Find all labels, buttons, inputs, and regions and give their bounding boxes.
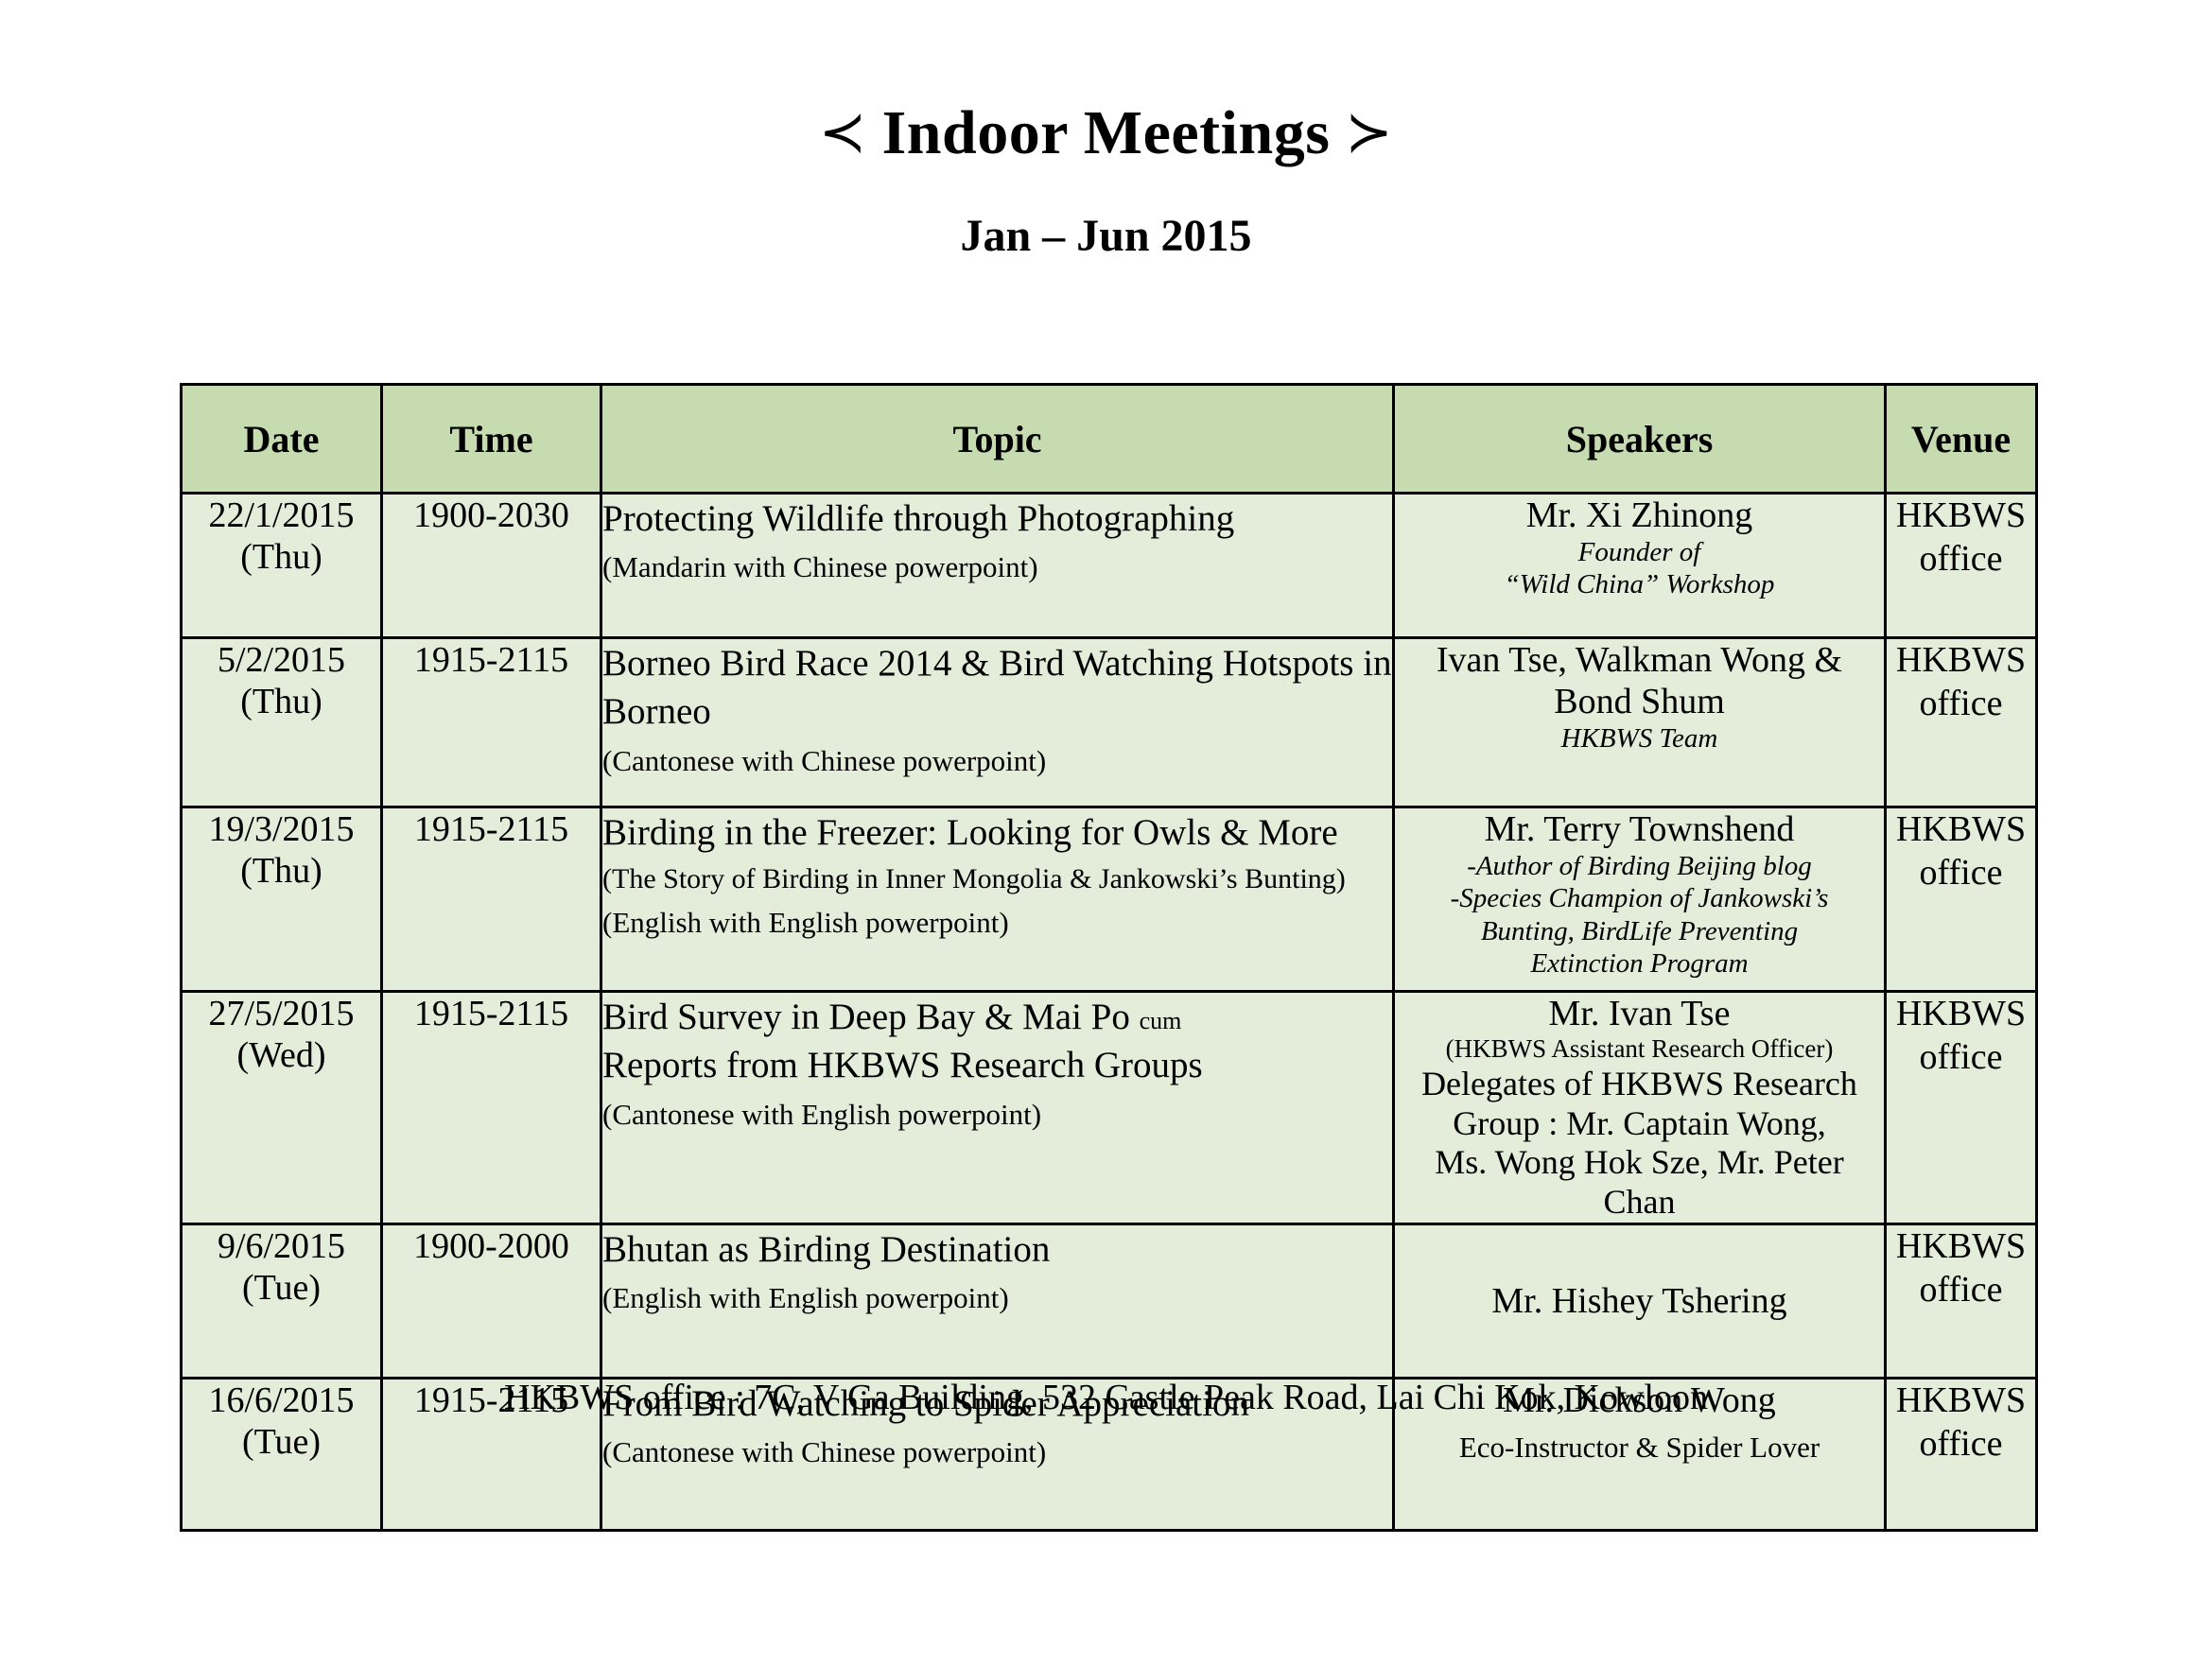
venue-line-1: HKBWS xyxy=(1896,994,2026,1033)
topic-title: Protecting Wildlife through Photographin… xyxy=(602,495,1392,543)
speaker-name: Mr. Xi Zhinong xyxy=(1395,495,1884,536)
topic-title-part-1: Bird Survey in Deep Bay & Mai Po xyxy=(602,997,1140,1037)
table-row: 5/2/2015 (Thu) 1915-2115 Borneo Bird Rac… xyxy=(182,638,2037,807)
cell-date: 22/1/2015 (Thu) xyxy=(182,494,382,638)
venue-line-1: HKBWS xyxy=(1896,809,2026,849)
speaker-role-line: -Author of Birding Beijing blog xyxy=(1395,850,1884,882)
cell-topic: Protecting Wildlife through Photographin… xyxy=(601,494,1394,638)
cell-topic: Bird Survey in Deep Bay & Mai Po cum Rep… xyxy=(601,992,1394,1224)
cell-date: 9/6/2015 (Tue) xyxy=(182,1223,382,1378)
date-line-1: 5/2/2015 xyxy=(218,640,345,680)
venue-line-2: office xyxy=(1920,1270,2003,1310)
arrow-left-icon: ≺ xyxy=(819,104,867,161)
cell-speakers: Ivan Tse, Walkman Wong & Bond Shum HKBWS… xyxy=(1394,638,1886,807)
table-row: 9/6/2015 (Tue) 1900-2000 Bhutan as Birdi… xyxy=(182,1223,2037,1378)
cell-speakers: Mr. Terry Townshend -Author of Birding B… xyxy=(1394,807,1886,992)
column-header-venue: Venue xyxy=(1886,385,2037,494)
cell-time: 1915-2115 xyxy=(382,807,601,992)
table-row: 22/1/2015 (Thu) 1900-2030 Protecting Wil… xyxy=(182,494,2037,638)
speaker-name: Ivan Tse, Walkman Wong & Bond Shum xyxy=(1395,639,1884,722)
date-line-1: 27/5/2015 xyxy=(208,994,354,1033)
venue-line-1: HKBWS xyxy=(1896,1226,2026,1266)
date-line-2: (Tue) xyxy=(242,1422,321,1462)
table-row: 27/5/2015 (Wed) 1915-2115 Bird Survey in… xyxy=(182,992,2037,1224)
topic-language-note: (Cantonese with Chinese powerpoint) xyxy=(602,1433,1392,1472)
table-header-row: Date Time Topic Speakers Venue xyxy=(182,385,2037,494)
cell-venue: HKBWS office xyxy=(1886,992,2037,1224)
cell-venue: HKBWS office xyxy=(1886,1223,2037,1378)
speaker-delegates-line: Delegates of HKBWS Research xyxy=(1395,1065,1884,1104)
topic-language-note: (Mandarin with Chinese powerpoint) xyxy=(602,548,1392,587)
venue-line-2: office xyxy=(1920,1424,2003,1464)
cell-speakers: Mr. Xi Zhinong Founder of “Wild China” W… xyxy=(1394,494,1886,638)
topic-subtitle: (The Story of Birding in Inner Mongolia … xyxy=(602,860,1392,898)
date-line-2: (Thu) xyxy=(240,851,322,891)
speaker-delegates-line: Ms. Wong Hok Sze, Mr. Peter Chan xyxy=(1395,1143,1884,1223)
date-line-1: 22/1/2015 xyxy=(208,495,354,535)
date-line-2: (Wed) xyxy=(237,1035,326,1075)
topic-title: Birding in the Freezer: Looking for Owls… xyxy=(602,808,1392,857)
date-line-1: 19/3/2015 xyxy=(208,809,354,849)
speaker-role-line: “Wild China” Workshop xyxy=(1395,568,1884,600)
cell-topic: Borneo Bird Race 2014 & Bird Watching Ho… xyxy=(601,638,1394,807)
topic-language-note: (Cantonese with English powerpoint) xyxy=(602,1096,1392,1135)
date-line-2: (Thu) xyxy=(240,537,322,577)
date-line-2: (Tue) xyxy=(242,1268,321,1308)
cell-venue: HKBWS office xyxy=(1886,638,2037,807)
venue-line-2: office xyxy=(1920,1037,2003,1077)
speaker-delegates-line: Group : Mr. Captain Wong, xyxy=(1395,1104,1884,1144)
column-header-date: Date xyxy=(182,385,382,494)
topic-title-line-2: Reports from HKBWS Research Groups xyxy=(602,1041,1392,1089)
document-page: ≺Indoor Meetings≻ Jan – Jun 2015 Date Ti… xyxy=(0,102,2212,1666)
cell-speakers: Mr. Hishey Tshering xyxy=(1394,1223,1886,1378)
column-header-topic: Topic xyxy=(601,385,1394,494)
cell-time: 1900-2000 xyxy=(382,1223,601,1378)
cell-topic: Bhutan as Birding Destination (English w… xyxy=(601,1223,1394,1378)
topic-language-note: (English with English powerpoint) xyxy=(602,1279,1392,1318)
cell-topic: Birding in the Freezer: Looking for Owls… xyxy=(601,807,1394,992)
date-line-2: (Thu) xyxy=(240,682,322,721)
page-title: ≺Indoor Meetings≻ xyxy=(0,102,2212,165)
topic-title: Bird Survey in Deep Bay & Mai Po cum xyxy=(602,993,1392,1041)
venue-line-1: HKBWS xyxy=(1896,640,2026,680)
speaker-name: Mr. Ivan Tse xyxy=(1395,993,1884,1034)
cell-date: 19/3/2015 (Thu) xyxy=(182,807,382,992)
topic-title: Bhutan as Birding Destination xyxy=(602,1225,1392,1274)
speaker-name: Mr. Terry Townshend xyxy=(1395,808,1884,850)
cell-venue: HKBWS office xyxy=(1886,494,2037,638)
speaker-role-line: Extinction Program xyxy=(1395,947,1884,980)
topic-language-note: (Cantonese with Chinese powerpoint) xyxy=(602,742,1392,781)
topic-cum-word: cum xyxy=(1140,1007,1182,1034)
cell-time: 1915-2115 xyxy=(382,638,601,807)
footer-address: HKBWS office : 7C, V Ga Building, 532 Ca… xyxy=(0,1377,2212,1418)
cell-time: 1915-2115 xyxy=(382,992,601,1224)
column-header-speakers: Speakers xyxy=(1394,385,1886,494)
cell-date: 5/2/2015 (Thu) xyxy=(182,638,382,807)
cell-venue: HKBWS office xyxy=(1886,807,2037,992)
venue-line-2: office xyxy=(1920,539,2003,579)
speaker-role-line: -Species Champion of Jankowski’s xyxy=(1395,882,1884,914)
table-row: 19/3/2015 (Thu) 1915-2115 Birding in the… xyxy=(182,807,2037,992)
schedule-table: Date Time Topic Speakers Venue 22/1/2015… xyxy=(180,383,2038,1532)
cell-time: 1900-2030 xyxy=(382,494,601,638)
venue-line-1: HKBWS xyxy=(1896,495,2026,535)
speaker-role-line: Founder of xyxy=(1395,536,1884,568)
venue-line-2: office xyxy=(1920,853,2003,893)
venue-line-2: office xyxy=(1920,684,2003,723)
speaker-name: Mr. Hishey Tshering xyxy=(1395,1280,1884,1322)
speaker-role-line: Bunting, BirdLife Preventing xyxy=(1395,915,1884,947)
page-title-text: Indoor Meetings xyxy=(882,98,1331,167)
date-line-1: 9/6/2015 xyxy=(218,1226,345,1266)
page-subtitle: Jan – Jun 2015 xyxy=(0,214,2212,259)
speaker-role-line: HKBWS Team xyxy=(1395,722,1884,755)
arrow-right-icon: ≻ xyxy=(1345,104,1393,161)
speaker-role-line: (HKBWS Assistant Research Officer) xyxy=(1395,1034,1884,1065)
speaker-role-line: Eco-Instructor & Spider Lover xyxy=(1395,1431,1884,1466)
topic-title: Borneo Bird Race 2014 & Bird Watching Ho… xyxy=(602,639,1392,737)
cell-date: 27/5/2015 (Wed) xyxy=(182,992,382,1224)
topic-language-note: (English with English powerpoint) xyxy=(602,904,1392,943)
cell-speakers: Mr. Ivan Tse (HKBWS Assistant Research O… xyxy=(1394,992,1886,1224)
schedule-table-wrapper: Date Time Topic Speakers Venue 22/1/2015… xyxy=(180,383,2035,1532)
column-header-time: Time xyxy=(382,385,601,494)
